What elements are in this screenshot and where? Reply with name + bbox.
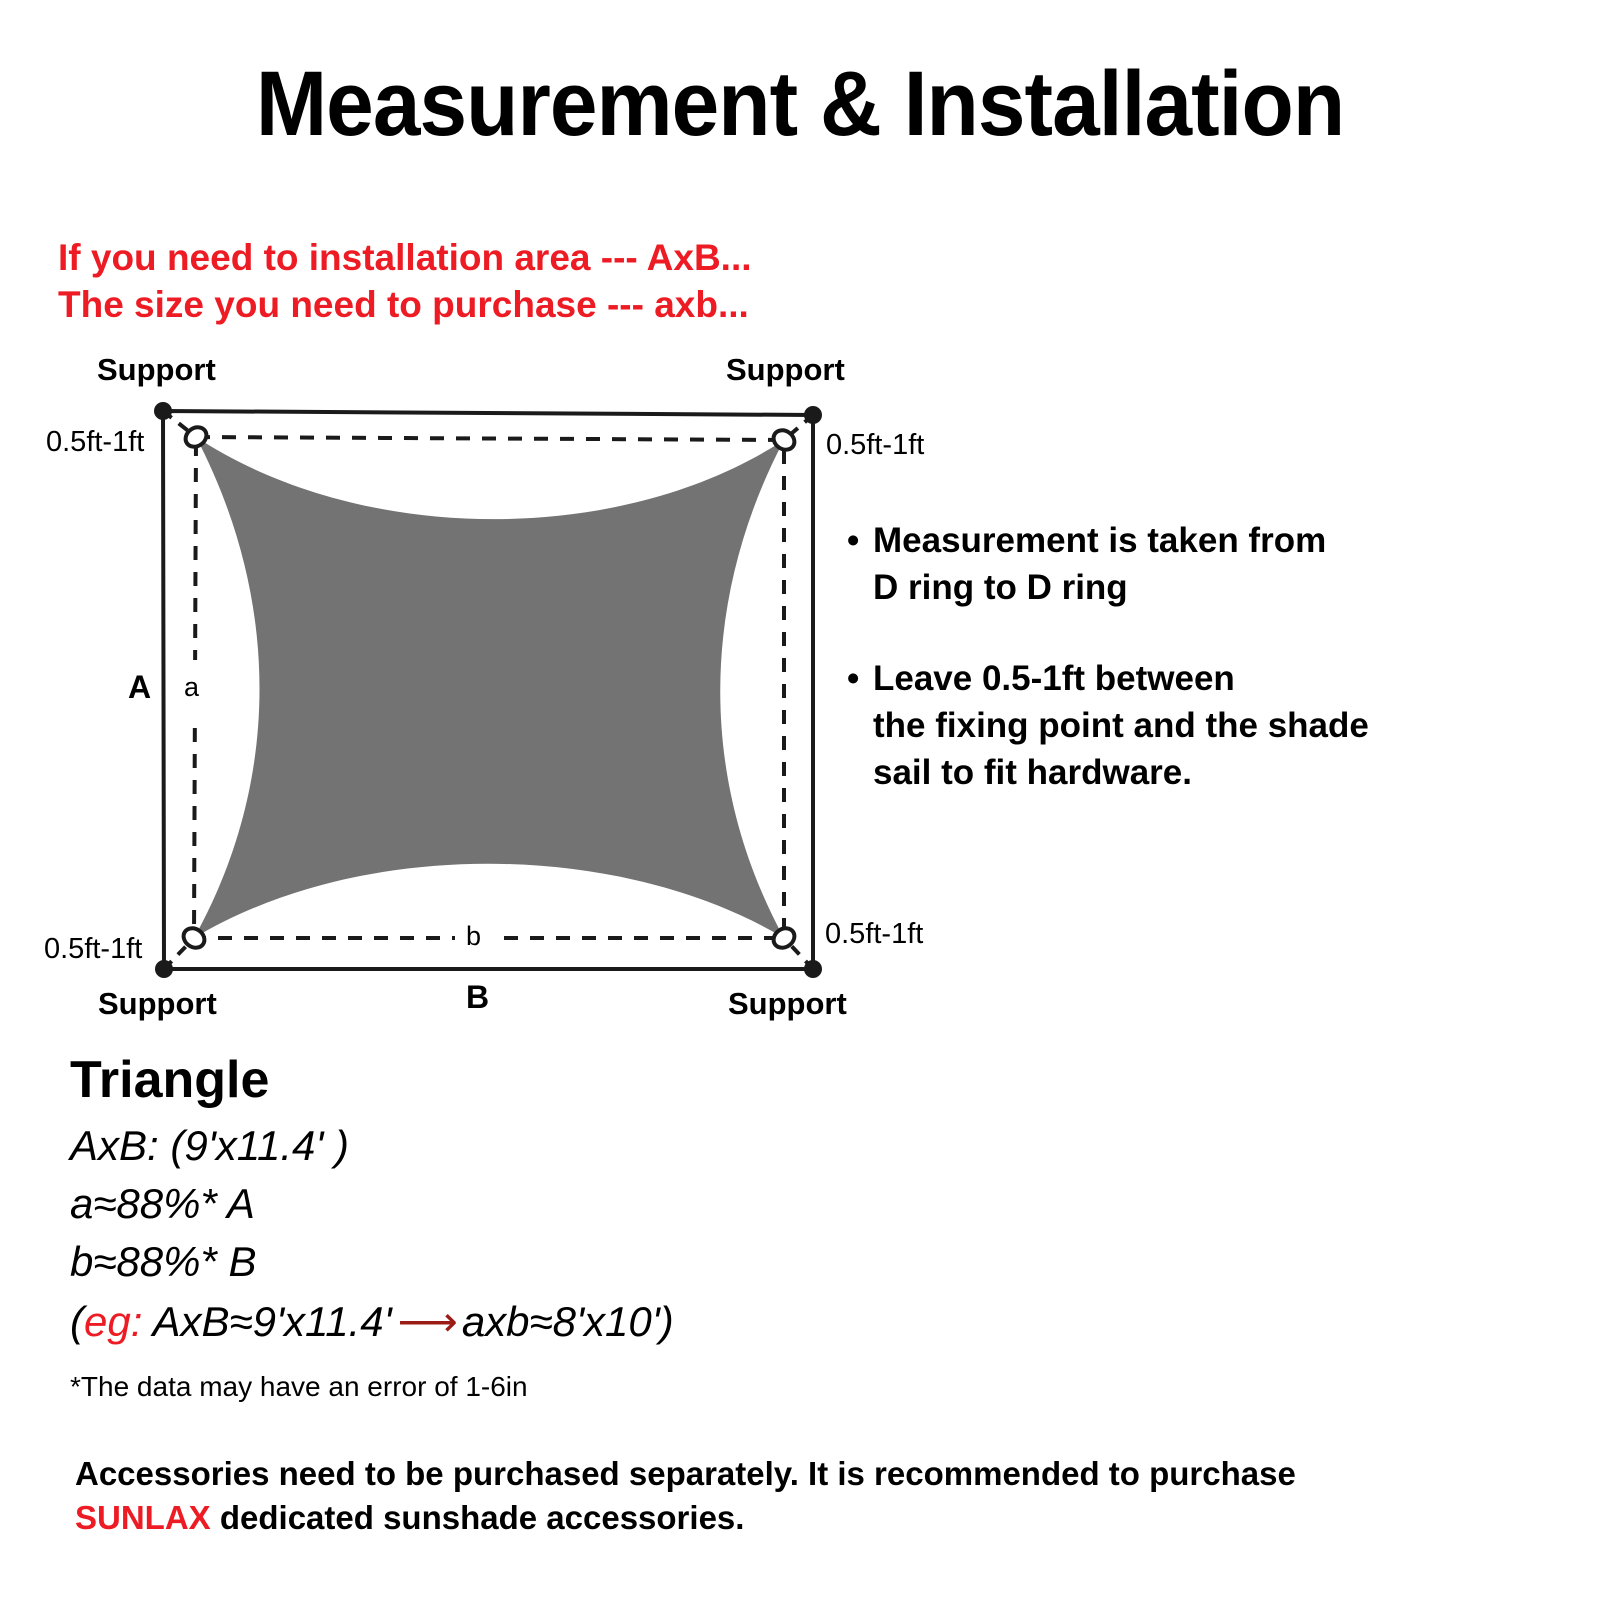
note-line: sail to fit hardware. — [873, 750, 1575, 797]
support-label-top-right: Support — [726, 354, 845, 385]
note-line: Measurement is taken from — [873, 518, 1575, 565]
spec-heading: Triangle — [70, 1052, 970, 1109]
dimension-label-b-inner: b — [466, 923, 481, 950]
dimension-label-b-outer: B — [466, 981, 489, 1013]
spec-example-line: (eg: AxB≈9'x11.4'⟶axb≈8'x10') — [70, 1293, 970, 1351]
support-label-bottom-right: Support — [728, 988, 847, 1019]
support-point-top-right — [804, 406, 822, 424]
arrow-right-icon: ⟶ — [392, 1298, 462, 1345]
brand-name: SUNLAX — [75, 1499, 211, 1536]
gap-label-top-right: 0.5ft-1ft — [826, 431, 924, 460]
footer-line-2: SUNLAX dedicated sunshade accessories. — [75, 1496, 1575, 1540]
note-line: Leave 0.5-1ft between — [873, 656, 1575, 703]
note-item-measurement: • Measurement is taken from D ring to D … — [845, 518, 1575, 612]
support-label-top-left: Support — [97, 354, 216, 385]
example-right-size: axb≈8'x10') — [462, 1298, 674, 1345]
example-left-size: AxB≈9'x11.4' — [142, 1298, 391, 1345]
spec-error-note: *The data may have an error of 1-6in — [70, 1369, 970, 1405]
gap-label-top-left: 0.5ft-1ft — [46, 428, 144, 457]
note-item-clearance: • Leave 0.5-1ft between the fixing point… — [845, 656, 1575, 797]
footer-line-2-rest: dedicated sunshade accessories. — [211, 1499, 745, 1536]
support-point-bottom-right — [804, 960, 822, 978]
shade-sail-diagram: Support Support Support Support 0.5ft-1f… — [0, 340, 960, 1040]
spec-row-b-pct: b≈88%* B — [70, 1233, 970, 1291]
page-title: Measurement & Installation — [56, 58, 1544, 150]
note-line: D ring to D ring — [873, 565, 1575, 612]
dimension-label-a-inner: a — [184, 674, 199, 701]
intro-line-1: If you need to installation area --- AxB… — [58, 234, 752, 281]
support-label-bottom-left: Support — [98, 988, 217, 1019]
example-eg-label: eg: — [84, 1298, 142, 1345]
note-line: the fixing point and the shade — [873, 703, 1575, 750]
accessories-footer: Accessories need to be purchased separat… — [75, 1452, 1575, 1540]
footer-line-1: Accessories need to be purchased separat… — [75, 1452, 1575, 1496]
gap-label-bottom-right: 0.5ft-1ft — [825, 920, 923, 949]
support-point-top-left — [154, 402, 172, 420]
bullet-dot-icon: • — [847, 518, 859, 565]
spec-row-axb: AxB: (9'x11.4' ) — [70, 1117, 970, 1175]
size-spec-block: Triangle AxB: (9'x11.4' ) a≈88%* A b≈88%… — [70, 1052, 970, 1405]
installation-notes-list: • Measurement is taken from D ring to D … — [845, 518, 1575, 796]
bullet-dot-icon: • — [847, 656, 859, 703]
support-point-bottom-left — [155, 960, 173, 978]
dimension-label-a-outer: A — [128, 671, 151, 703]
example-open-paren: ( — [70, 1298, 84, 1345]
intro-note: If you need to installation area --- AxB… — [58, 234, 752, 329]
intro-line-2: The size you need to purchase --- axb... — [58, 281, 752, 328]
shade-sail-shape — [194, 437, 784, 938]
infographic-page: Measurement & Installation If you need t… — [0, 0, 1600, 1600]
gap-label-bottom-left: 0.5ft-1ft — [44, 935, 142, 964]
spec-row-a-pct: a≈88%* A — [70, 1175, 970, 1233]
